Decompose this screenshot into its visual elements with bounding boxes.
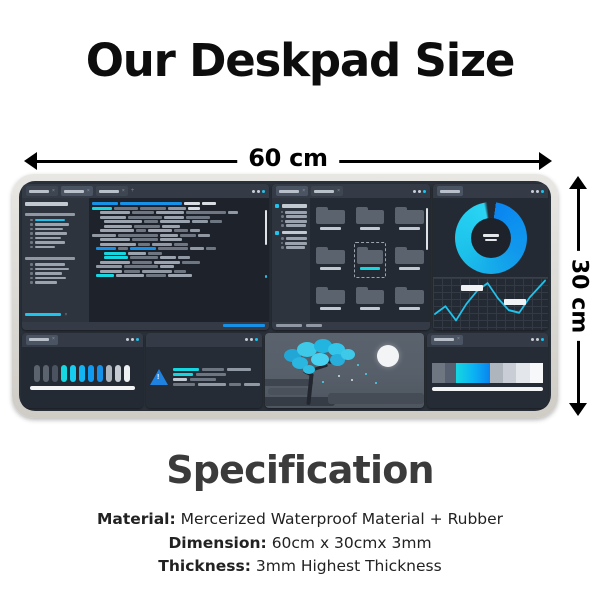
folder-icon: [316, 290, 345, 304]
equalizer-titlebar: ×: [22, 333, 143, 347]
eq-bar[interactable]: [34, 365, 40, 382]
panel-equalizer: ×: [22, 333, 143, 408]
spec-row-thickness: Thickness: 3mm Highest Thickness: [0, 555, 600, 579]
places-sidebar: [272, 198, 310, 322]
folder-icon: [395, 210, 424, 224]
file-tree-item-selected[interactable]: [25, 219, 86, 222]
file-tree-item[interactable]: [25, 272, 86, 275]
sidebar-place[interactable]: [275, 215, 307, 218]
folder-item[interactable]: [393, 203, 426, 236]
file-manager-status-bar: [272, 322, 430, 330]
file-tree-item[interactable]: [25, 281, 86, 284]
sidebar-place[interactable]: [275, 242, 307, 245]
fm-tab[interactable]: ×: [311, 186, 343, 196]
folder-icon: [316, 210, 345, 224]
specification-heading: Specification: [0, 448, 600, 492]
color-picker-titlebar: ×: [427, 333, 548, 347]
folder-scrollbar[interactable]: [426, 208, 428, 250]
folder-item[interactable]: [314, 203, 347, 236]
eq-bar[interactable]: [43, 365, 49, 382]
eq-bar[interactable]: [97, 365, 103, 382]
donut-chart: [433, 198, 548, 277]
fm-tab-active[interactable]: ×: [276, 186, 308, 196]
editor-tab-active[interactable]: ×: [61, 186, 93, 196]
folder-icon: [357, 250, 384, 264]
chart-label-chip: [504, 299, 526, 305]
panel-wallpaper: [265, 333, 424, 408]
folder-icon: [395, 250, 424, 264]
editor-status-bar: [22, 322, 269, 330]
panel-color-picker: ×: [427, 333, 548, 408]
color-picker-body: [427, 347, 548, 408]
sidebar-place[interactable]: [275, 224, 307, 227]
folder-icon: [316, 250, 345, 264]
file-tree-item[interactable]: [25, 277, 86, 280]
folder-icon: [356, 210, 385, 224]
file-tree-item[interactable]: [25, 223, 86, 226]
file-tree-item[interactable]: [25, 263, 86, 266]
file-tree-sidebar: ×: [22, 198, 89, 322]
eq-bar[interactable]: [70, 365, 76, 382]
color-picker-slider[interactable]: [432, 387, 543, 391]
eq-bar[interactable]: [79, 365, 85, 382]
sidebar-place[interactable]: [275, 246, 307, 249]
deskpad-printed-artwork: × × × +: [19, 181, 551, 411]
eq-bar[interactable]: [88, 365, 94, 382]
spec-key: Material:: [97, 510, 176, 528]
height-dimension: 30 cm: [566, 176, 592, 416]
code-scrollbar[interactable]: [265, 210, 267, 245]
file-manager-body: [272, 198, 430, 322]
code-scroll-marker: [265, 275, 267, 278]
equalizer-bars[interactable]: [28, 365, 137, 382]
color-picker-tab[interactable]: ×: [431, 335, 463, 345]
folder-item[interactable]: [314, 242, 347, 278]
editor-tab[interactable]: ×: [26, 186, 58, 196]
folder-item[interactable]: [393, 242, 426, 278]
spec-row-dimension: Dimension: 60cm x 30cmx 3mm: [0, 532, 600, 556]
window-controls[interactable]: [245, 338, 258, 341]
equalizer-slider[interactable]: [30, 386, 135, 390]
folder-item[interactable]: [354, 284, 387, 317]
width-dimension: 60 cm: [24, 148, 552, 174]
spec-key: Thickness:: [158, 557, 251, 575]
editor-tab[interactable]: ×: [96, 186, 128, 196]
moon-icon: [377, 345, 399, 367]
sidebar-place[interactable]: [275, 220, 307, 223]
file-manager-titlebar: × ×: [272, 184, 430, 198]
sidebar-section[interactable]: [275, 204, 307, 208]
window-controls[interactable]: [252, 190, 265, 193]
window-controls[interactable]: [531, 338, 544, 341]
spec-key: Dimension:: [168, 534, 266, 552]
warning-triangle-icon: [150, 369, 168, 385]
file-tree-item[interactable]: [25, 237, 86, 240]
eq-bar[interactable]: [106, 365, 112, 382]
spec-row-material: Material: Mercerized Waterproof Material…: [0, 508, 600, 532]
file-tree-item[interactable]: [25, 232, 86, 235]
panel-dashboard: [433, 184, 548, 330]
folder-icon: [395, 290, 424, 304]
folder-item[interactable]: [314, 284, 347, 317]
arrow-down-icon: [569, 403, 587, 416]
file-tree-item[interactable]: [25, 268, 86, 271]
window-controls[interactable]: [413, 190, 426, 193]
color-gradient-strip[interactable]: [432, 363, 543, 383]
terminal-titlebar: [146, 333, 262, 347]
artwork-top-row: × × × +: [22, 184, 548, 330]
dashboard-titlebar: [433, 184, 548, 198]
deskpad-product-image: × × × +: [12, 174, 558, 418]
folder-item-selected[interactable]: [354, 242, 387, 278]
line-chart: [433, 277, 548, 329]
file-tree-item[interactable]: [25, 241, 86, 244]
spec-value: Mercerized Waterproof Material + Rubber: [181, 510, 503, 528]
folder-icon: [356, 290, 385, 304]
equalizer-body: [22, 347, 143, 408]
new-tab-icon[interactable]: +: [131, 188, 135, 194]
dashboard-tab[interactable]: [437, 186, 463, 196]
file-tree-item[interactable]: [25, 246, 86, 249]
specification-list: Material: Mercerized Waterproof Material…: [0, 508, 600, 579]
spec-value: 3mm Highest Thickness: [256, 557, 442, 575]
height-dimension-label: 30 cm: [567, 251, 592, 341]
folder-grid: [310, 198, 430, 322]
eq-bar[interactable]: [124, 365, 130, 382]
sidebar-place[interactable]: [275, 237, 307, 240]
page-title: Our Deskpad Size: [0, 34, 600, 87]
eq-bar[interactable]: [52, 365, 58, 382]
folder-item[interactable]: [354, 203, 387, 236]
log-lines: [173, 351, 260, 404]
chart-label-chip: [461, 285, 483, 291]
eq-bar[interactable]: [61, 365, 67, 382]
file-tree-item[interactable]: [25, 228, 86, 231]
code-editor-body: ×: [22, 198, 269, 322]
spec-value: 60cm x 30cmx 3mm: [272, 534, 432, 552]
width-dimension-label: 60 cm: [237, 144, 339, 172]
code-editor-titlebar: × × × +: [22, 184, 269, 198]
folder-item[interactable]: [393, 284, 426, 317]
donut-center-label: [483, 234, 499, 241]
panel-terminal: [146, 333, 262, 408]
window-controls[interactable]: [531, 190, 544, 193]
bonsai-artwork: [265, 333, 424, 408]
sidebar-footer[interactable]: ×: [25, 312, 86, 318]
sidebar-section[interactable]: [275, 231, 307, 235]
code-area[interactable]: [89, 198, 269, 322]
terminal-body[interactable]: [146, 347, 262, 408]
panel-code-editor: × × × +: [22, 184, 269, 330]
sidebar-place[interactable]: [275, 211, 307, 214]
window-controls[interactable]: [126, 338, 139, 341]
arrow-right-icon: [539, 152, 552, 170]
panel-file-manager: × ×: [272, 184, 430, 330]
equalizer-tab[interactable]: ×: [26, 335, 58, 345]
eq-bar[interactable]: [115, 365, 121, 382]
artwork-bottom-row: ×: [22, 333, 548, 408]
